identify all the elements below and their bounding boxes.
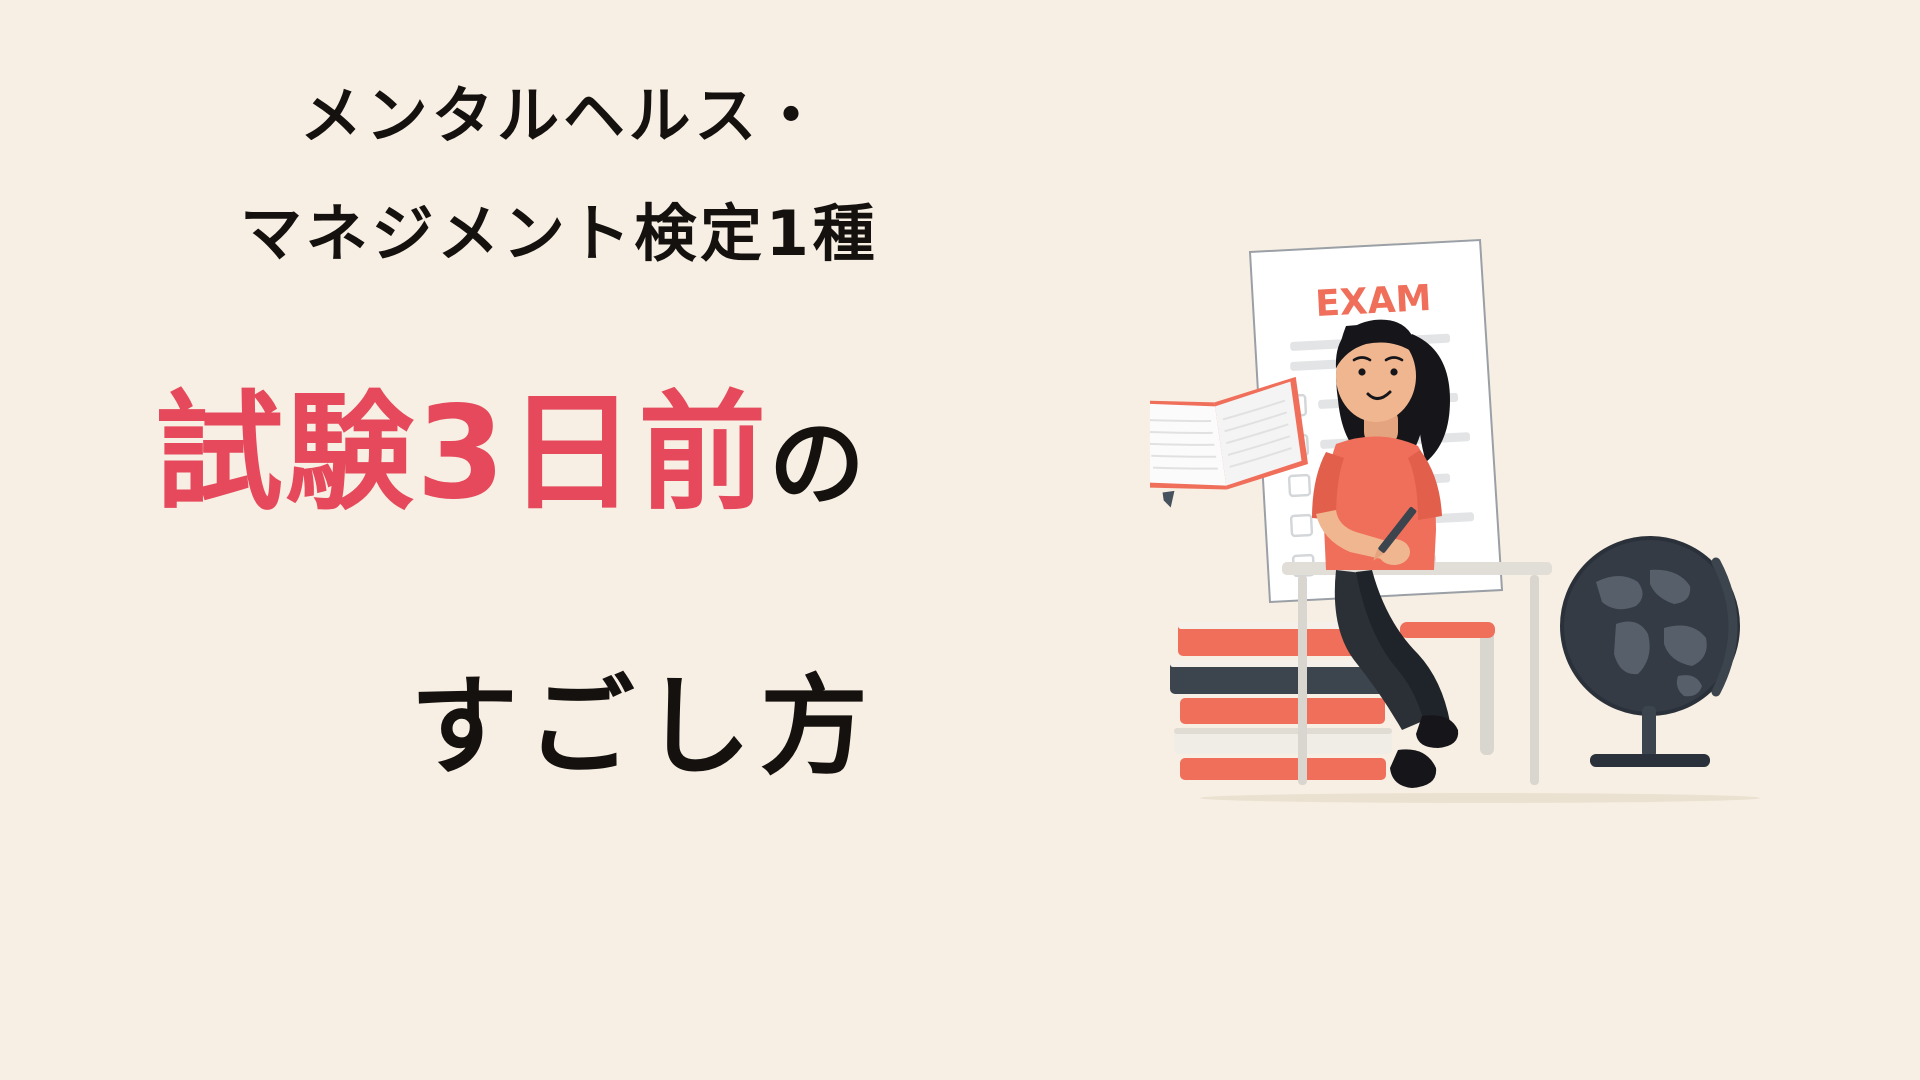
text-block: メンタルヘルス・ マネジメント検定1種 試験3日前の すごし方 [0, 0, 1150, 1080]
headline-primary: 試験3日前の [155, 390, 867, 518]
globe-stem [1642, 706, 1656, 758]
student-studying-illustration: EXAM [1150, 230, 1770, 850]
exam-paper-title: EXAM [1314, 278, 1432, 325]
bookmark-icon [1163, 491, 1177, 509]
shoe-back [1416, 715, 1458, 748]
subtitle-line-2: マネジメント検定1種 [240, 200, 878, 268]
headline-red-text: 試験3日前 [155, 379, 769, 528]
eye-left [1358, 368, 1365, 375]
subtitle-line-1: メンタルヘルス・ [300, 82, 826, 150]
thumbnail-canvas: メンタルヘルス・ マネジメント検定1種 試験3日前の すごし方 EXAM [0, 0, 1920, 1080]
headline-line-2: すごし方 [410, 640, 877, 796]
globe [1562, 538, 1738, 767]
globe-base [1590, 754, 1710, 767]
ground-shadow [1200, 793, 1760, 803]
shoe-front [1390, 749, 1436, 788]
eye-right [1390, 368, 1397, 375]
headline-particle: の [769, 408, 868, 520]
